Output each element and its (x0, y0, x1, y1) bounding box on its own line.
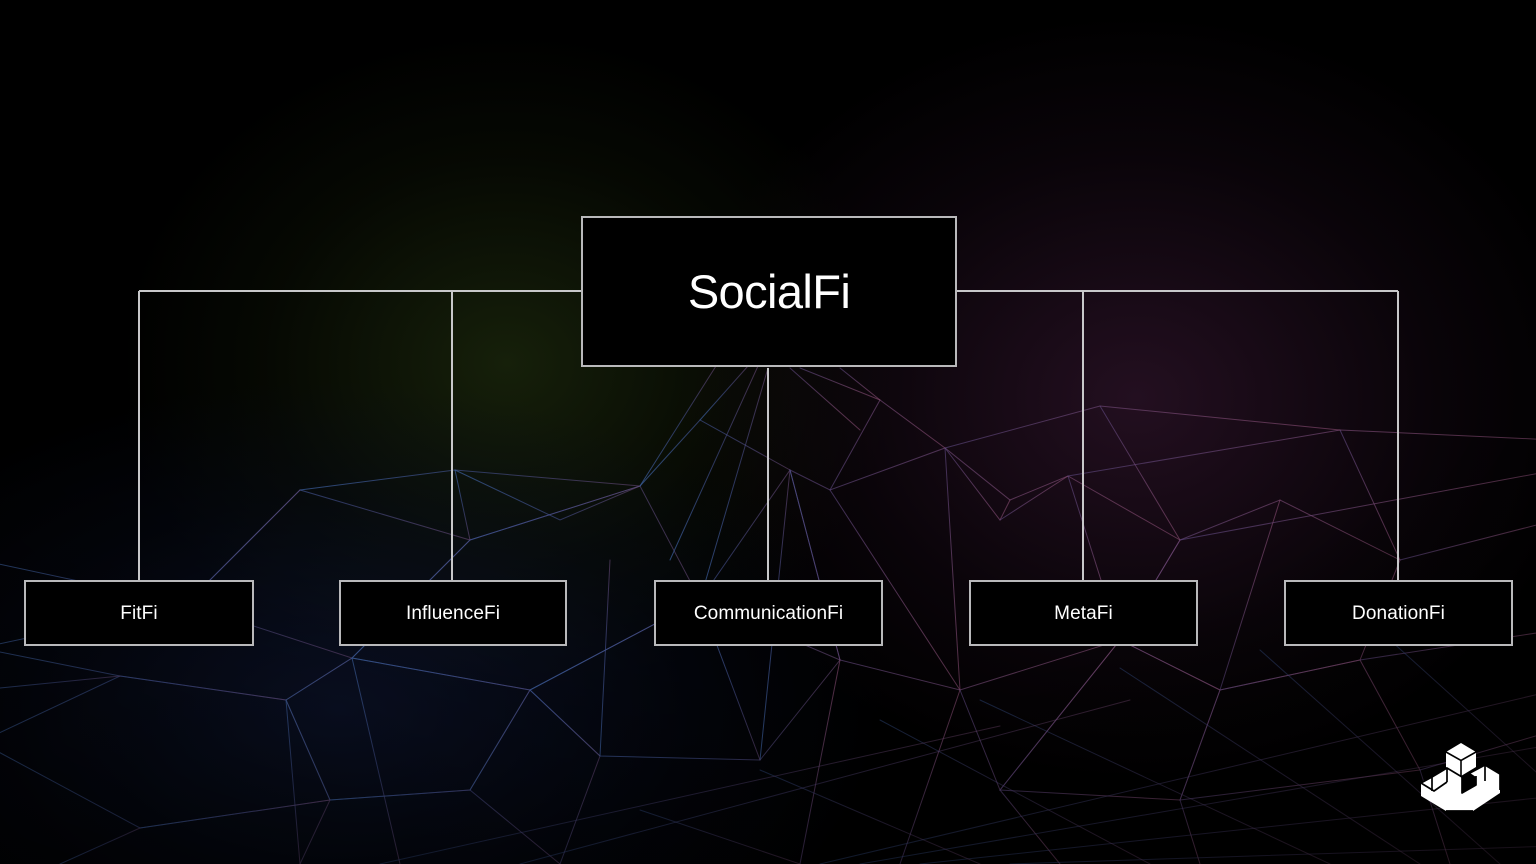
node-leaf-donationfi[interactable]: DonationFi (1284, 580, 1513, 646)
node-leaf-metafi[interactable]: MetaFi (969, 580, 1198, 646)
node-leaf-label: CommunicationFi (694, 604, 843, 623)
node-leaf-communicationfi[interactable]: CommunicationFi (654, 580, 883, 646)
node-root-label: SocialFi (688, 268, 850, 315)
node-leaf-label: InfluenceFi (406, 604, 500, 623)
node-leaf-label: DonationFi (1352, 604, 1445, 623)
node-leaf-label: MetaFi (1054, 604, 1113, 623)
node-leaf-influencefi[interactable]: InfluenceFi (339, 580, 567, 646)
node-leaf-fitfi[interactable]: FitFi (24, 580, 254, 646)
node-root-socialfi[interactable]: SocialFi (581, 216, 957, 367)
isometric-cube-stack-logo-icon (1418, 741, 1504, 817)
tree-connectors (0, 0, 1536, 864)
diagram-canvas: SocialFi FitFi InfluenceFi Communication… (0, 0, 1536, 864)
node-leaf-label: FitFi (120, 604, 157, 623)
